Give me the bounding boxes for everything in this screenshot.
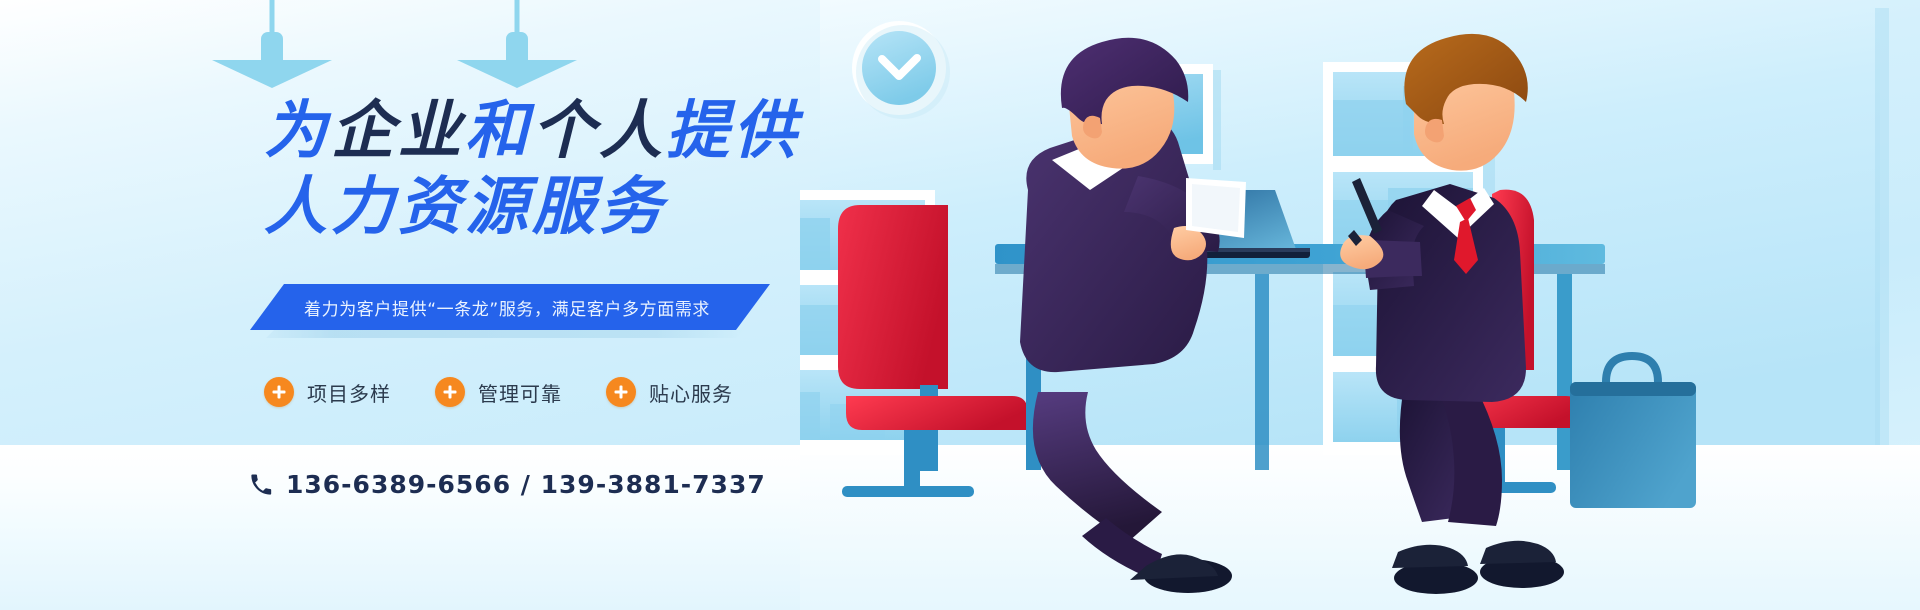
feature-item-1[interactable]: 管理可靠 (435, 377, 562, 407)
phone-icon (250, 474, 272, 496)
feature-list: 项目多样 管理可靠 贴心服务 (264, 377, 777, 407)
plus-icon (606, 377, 636, 407)
feature-item-0[interactable]: 项目多样 (264, 377, 391, 407)
illustration-floor (800, 445, 1920, 610)
feature-label: 项目多样 (307, 378, 391, 407)
plus-icon (264, 377, 294, 407)
subtitle-bar-shadow (244, 330, 744, 338)
feature-label: 管理可靠 (478, 378, 562, 407)
hero-banner: 为企业和个人提供 人力资源服务 着力为客户提供“一条龙”服务，满足客户多方面需求… (0, 0, 1920, 610)
headline-part-3: 个人 (532, 96, 666, 166)
subtitle-text: 着力为客户提供“一条龙”服务，满足客户多方面需求 (304, 295, 710, 320)
headline-part-2: 和 (465, 96, 532, 166)
headline-part-0: 为 (264, 96, 331, 166)
contact-phone[interactable]: 136-6389-6566 / 139-3881-7337 (250, 470, 766, 499)
office-interview-illustration (800, 0, 1920, 610)
headline-part-4: 提供 (666, 96, 800, 166)
subtitle-bar: 着力为客户提供“一条龙”服务，满足客户多方面需求 (250, 284, 770, 330)
plus-icon (435, 377, 465, 407)
headline-part-1: 企业 (331, 96, 465, 166)
feature-item-2[interactable]: 贴心服务 (606, 377, 733, 407)
feature-label: 贴心服务 (649, 378, 733, 407)
phone-number: 136-6389-6566 / 139-3881-7337 (286, 470, 766, 499)
